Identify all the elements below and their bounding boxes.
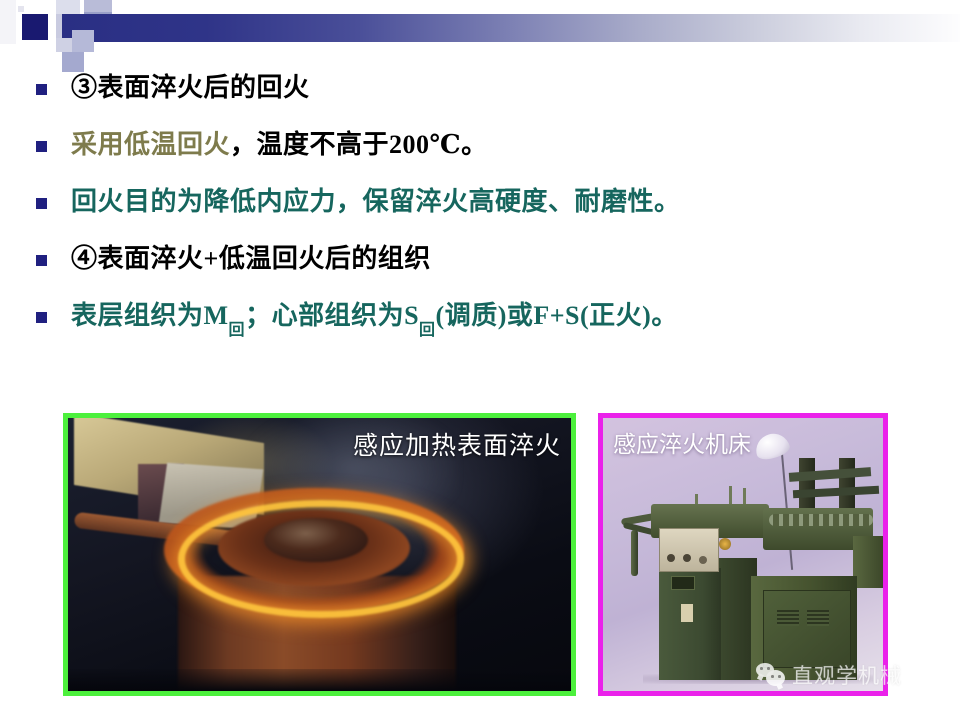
deco-square-mid-top bbox=[84, 0, 112, 12]
bullet-line-4-text: ④表面淬火+低温回火后的组织 bbox=[71, 239, 431, 279]
machine-display-dial bbox=[671, 576, 695, 590]
photo-left-caption: 感应加热表面淬火 bbox=[353, 426, 561, 462]
machine-control-panel bbox=[659, 528, 719, 572]
machine-tower-left bbox=[799, 458, 815, 514]
bullet-square-icon bbox=[36, 84, 47, 95]
line5-subscript-1: 回 bbox=[229, 322, 246, 339]
machine-tower-right bbox=[839, 458, 855, 514]
heated-ring-core bbox=[264, 518, 368, 562]
deco-square-pale-left bbox=[0, 0, 16, 44]
deco-square-lower bbox=[72, 30, 94, 52]
bullet-line-4: ④表面淬火+低温回火后的组织 bbox=[0, 239, 960, 296]
machine-amber-indicator bbox=[719, 538, 731, 550]
machine-knob-2 bbox=[683, 554, 691, 562]
deco-square-navy bbox=[22, 14, 48, 40]
line5-part2: ；心部组织为S bbox=[245, 301, 419, 330]
bullet-line-2: 采用低温回火，温度不高于200℃。 bbox=[0, 125, 960, 182]
bullet-square-icon bbox=[36, 198, 47, 209]
bullet-line-2-segment-black: ，温度不高于200℃。 bbox=[230, 130, 488, 159]
machine-cabinet-door bbox=[763, 590, 851, 668]
bullet-square-icon bbox=[36, 141, 47, 152]
wechat-watermark: 直观学机械 bbox=[756, 660, 902, 690]
bullet-line-3-text: 回火目的为降低内应力，保留淬火高硬度、耐磨性。 bbox=[71, 182, 681, 222]
bullet-line-5: 表层组织为M回；心部组织为S回(调质)或F+S(正火)。 bbox=[0, 296, 960, 353]
slide-canvas: ③表面淬火后的回火 采用低温回火，温度不高于200℃。 回火目的为降低内应力，保… bbox=[0, 0, 960, 720]
wechat-eye-1 bbox=[760, 667, 763, 670]
deco-gradient-bar bbox=[62, 14, 960, 42]
line5-subscript-2: 回 bbox=[419, 322, 436, 339]
line5-part3: (调质)或F+S(正火)。 bbox=[436, 301, 678, 330]
top-decoration bbox=[0, 0, 960, 62]
machine-vent-right bbox=[807, 610, 829, 626]
bullet-list: ③表面淬火后的回火 采用低温回火，温度不高于200℃。 回火目的为降低内应力，保… bbox=[0, 68, 960, 353]
wechat-bubble-front bbox=[766, 670, 785, 686]
wechat-icon bbox=[756, 663, 786, 687]
bullet-line-1-text: ③表面淬火后的回火 bbox=[71, 68, 310, 108]
photo-right-caption: 感应淬火机床 bbox=[613, 425, 751, 459]
wechat-eye-2 bbox=[767, 667, 770, 670]
deco-square-tiny bbox=[18, 6, 24, 12]
photo-left-floor bbox=[68, 669, 571, 691]
bullet-line-3: 回火目的为降低内应力，保留淬火高硬度、耐磨性。 bbox=[0, 182, 960, 239]
machine-pipe bbox=[631, 530, 638, 576]
machine-knob-1 bbox=[667, 554, 675, 562]
bullet-line-2-text: 采用低温回火，温度不高于200℃。 bbox=[71, 125, 488, 165]
machine-nameplate bbox=[681, 604, 693, 622]
lamp-icon bbox=[752, 430, 791, 462]
bullet-line-2-segment-olive: 采用低温回火 bbox=[71, 130, 230, 159]
bullet-line-5-text: 表层组织为M回；心部组织为S回(调质)或F+S(正火)。 bbox=[71, 296, 678, 346]
machine-vent-left bbox=[777, 610, 799, 626]
line5-part1: 表层组织为M bbox=[71, 301, 229, 330]
bullet-square-icon bbox=[36, 312, 47, 323]
bullet-square-icon bbox=[36, 255, 47, 266]
machine-roller-rail bbox=[769, 514, 873, 526]
wechat-eye-3 bbox=[771, 675, 774, 678]
wechat-eye-4 bbox=[778, 675, 781, 678]
machine-knob-3 bbox=[699, 556, 707, 564]
induction-quenching-machine-photo: 感应淬火机床 bbox=[598, 413, 888, 696]
induction-surface-quenching-photo: 感应加热表面淬火 bbox=[63, 413, 576, 696]
machine-right-block bbox=[853, 536, 885, 588]
deco-square-light-top bbox=[56, 0, 80, 14]
wechat-watermark-text: 直观学机械 bbox=[792, 660, 902, 690]
bullet-line-1: ③表面淬火后的回火 bbox=[0, 68, 960, 125]
